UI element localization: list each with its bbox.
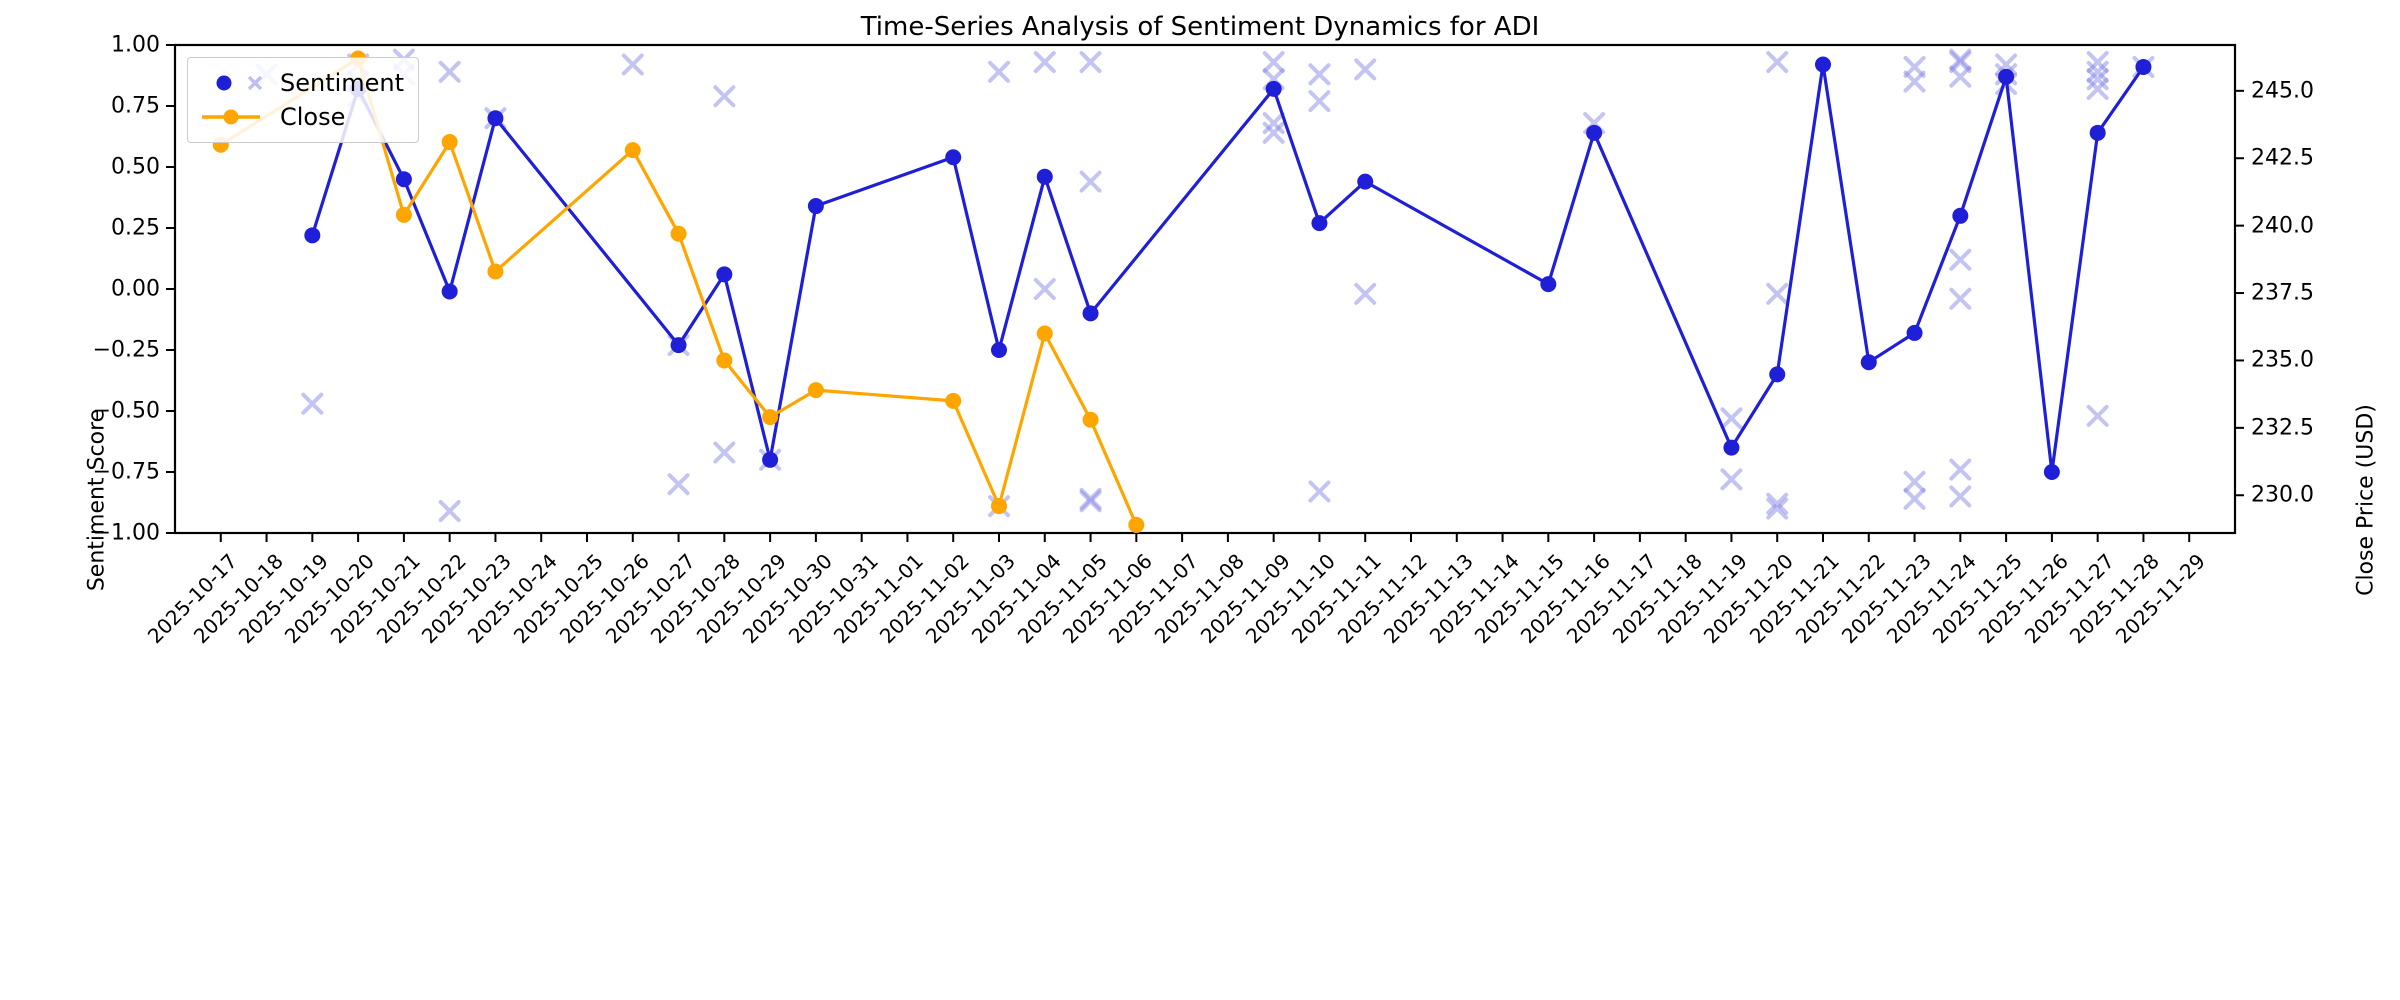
scatter-marker bbox=[1356, 60, 1374, 78]
y-tick-right-5: 232.5 bbox=[2251, 415, 2314, 440]
y-tick-left-8: −1.00 bbox=[60, 521, 160, 546]
data-point-close bbox=[671, 226, 687, 242]
data-point-close bbox=[1037, 325, 1053, 341]
scatter-marker bbox=[670, 475, 688, 493]
data-point-close bbox=[762, 409, 778, 425]
legend-label-close: Close bbox=[280, 103, 345, 131]
y-tick-right-0: 245.0 bbox=[2251, 78, 2314, 103]
data-point-sentiment bbox=[1083, 305, 1099, 321]
data-point-sentiment bbox=[671, 337, 687, 353]
scatter-marker bbox=[990, 63, 1008, 81]
data-point-sentiment bbox=[1037, 169, 1053, 185]
data-point-close bbox=[442, 134, 458, 150]
legend-marker-sentiment bbox=[198, 72, 270, 94]
scatter-marker bbox=[2089, 80, 2107, 98]
scatter-marker bbox=[1951, 290, 1969, 308]
data-point-sentiment bbox=[1861, 354, 1877, 370]
plot-canvas bbox=[0, 0, 2400, 1000]
scatter-marker bbox=[441, 63, 459, 81]
scatter-marker bbox=[1265, 114, 1283, 132]
data-point-sentiment bbox=[396, 171, 412, 187]
data-point-close bbox=[991, 498, 1007, 514]
y-tick-right-1: 242.5 bbox=[2251, 146, 2314, 171]
scatter-marker bbox=[715, 443, 733, 461]
data-point-sentiment bbox=[945, 149, 961, 165]
y-tick-left-4: 0.00 bbox=[60, 277, 160, 302]
scatter-marker bbox=[1310, 92, 1328, 110]
data-point-sentiment bbox=[1769, 366, 1785, 382]
scatter-marker bbox=[1951, 487, 1969, 505]
data-point-sentiment bbox=[1907, 325, 1923, 341]
data-point-close bbox=[1128, 517, 1144, 533]
scatter-marker bbox=[1768, 53, 1786, 71]
y-tick-right-6: 230.0 bbox=[2251, 483, 2314, 508]
legend-item-close[interactable]: Close bbox=[198, 100, 404, 134]
scatter-marker bbox=[1722, 409, 1740, 427]
scatter-marker bbox=[1951, 461, 1969, 479]
y-tick-right-2: 240.0 bbox=[2251, 213, 2314, 238]
scatter-marker bbox=[1082, 492, 1100, 510]
scatter-marker bbox=[303, 395, 321, 413]
y-tick-left-6: −0.50 bbox=[60, 399, 160, 424]
scatter-marker bbox=[1036, 53, 1054, 71]
data-point-close bbox=[716, 352, 732, 368]
data-point-sentiment bbox=[1311, 215, 1327, 231]
y-tick-left-5: −0.25 bbox=[60, 338, 160, 363]
y-tick-left-2: 0.50 bbox=[60, 155, 160, 180]
scatter-marker bbox=[715, 87, 733, 105]
data-point-sentiment bbox=[1815, 57, 1831, 73]
scatter-marker bbox=[624, 56, 642, 74]
scatter-marker bbox=[441, 502, 459, 520]
data-point-sentiment bbox=[1540, 276, 1556, 292]
data-point-sentiment bbox=[1998, 69, 2014, 85]
y-tick-left-1: 0.75 bbox=[60, 94, 160, 119]
scatter-marker bbox=[1265, 124, 1283, 142]
y-tick-left-0: 1.00 bbox=[60, 33, 160, 58]
data-point-sentiment bbox=[1723, 440, 1739, 456]
scatter-marker bbox=[2089, 407, 2107, 425]
data-point-sentiment bbox=[2044, 464, 2060, 480]
axes-group bbox=[166, 45, 2244, 542]
scatter-marker bbox=[1265, 53, 1283, 71]
scatter-marker bbox=[1768, 285, 1786, 303]
y-tick-left-3: 0.25 bbox=[60, 216, 160, 241]
data-point-sentiment bbox=[304, 227, 320, 243]
y-tick-right-4: 235.0 bbox=[2251, 348, 2314, 373]
chart-figure: Time-Series Analysis of Sentiment Dynami… bbox=[0, 0, 2400, 1000]
series-line-sentiment bbox=[312, 65, 2143, 473]
legend-marker-close bbox=[198, 106, 270, 128]
scatter-marker bbox=[1082, 53, 1100, 71]
scatter-marker bbox=[2089, 53, 2107, 71]
legend-item-sentiment[interactable]: Sentiment bbox=[198, 66, 404, 100]
data-point-close bbox=[808, 382, 824, 398]
data-point-sentiment bbox=[2090, 125, 2106, 141]
data-point-close bbox=[945, 393, 961, 409]
data-point-sentiment bbox=[716, 266, 732, 282]
scatter-marker bbox=[1722, 470, 1740, 488]
data-point-sentiment bbox=[991, 342, 1007, 358]
data-point-sentiment bbox=[1357, 174, 1373, 190]
data-point-sentiment bbox=[762, 452, 778, 468]
data-point-sentiment bbox=[1586, 125, 1602, 141]
data-point-close bbox=[396, 207, 412, 223]
scatter-marker bbox=[1906, 490, 1924, 508]
scatter-marker bbox=[1356, 285, 1374, 303]
scatter-marker bbox=[1036, 280, 1054, 298]
data-point-sentiment bbox=[1952, 208, 1968, 224]
scatter-marker bbox=[1951, 251, 1969, 269]
scatter-marker bbox=[1310, 65, 1328, 83]
data-point-close bbox=[1083, 412, 1099, 428]
scatter-marker bbox=[1951, 68, 1969, 86]
y-tick-right-3: 237.5 bbox=[2251, 281, 2314, 306]
y-tick-left-7: −0.75 bbox=[60, 460, 160, 485]
scatter-marker bbox=[1906, 473, 1924, 491]
data-point-sentiment bbox=[808, 198, 824, 214]
scatter-marker bbox=[1906, 73, 1924, 91]
data-point-sentiment bbox=[1266, 81, 1282, 97]
scatter-marker bbox=[1082, 173, 1100, 191]
scatter-marker bbox=[1310, 483, 1328, 501]
data-point-sentiment bbox=[442, 283, 458, 299]
data-point-sentiment bbox=[2135, 59, 2151, 75]
data-point-close bbox=[625, 142, 641, 158]
data-point-close bbox=[487, 263, 503, 279]
series-group bbox=[213, 50, 2153, 532]
chart-legend[interactable]: Sentiment Close bbox=[187, 57, 419, 143]
legend-label-sentiment: Sentiment bbox=[280, 69, 404, 97]
data-point-sentiment bbox=[487, 110, 503, 126]
